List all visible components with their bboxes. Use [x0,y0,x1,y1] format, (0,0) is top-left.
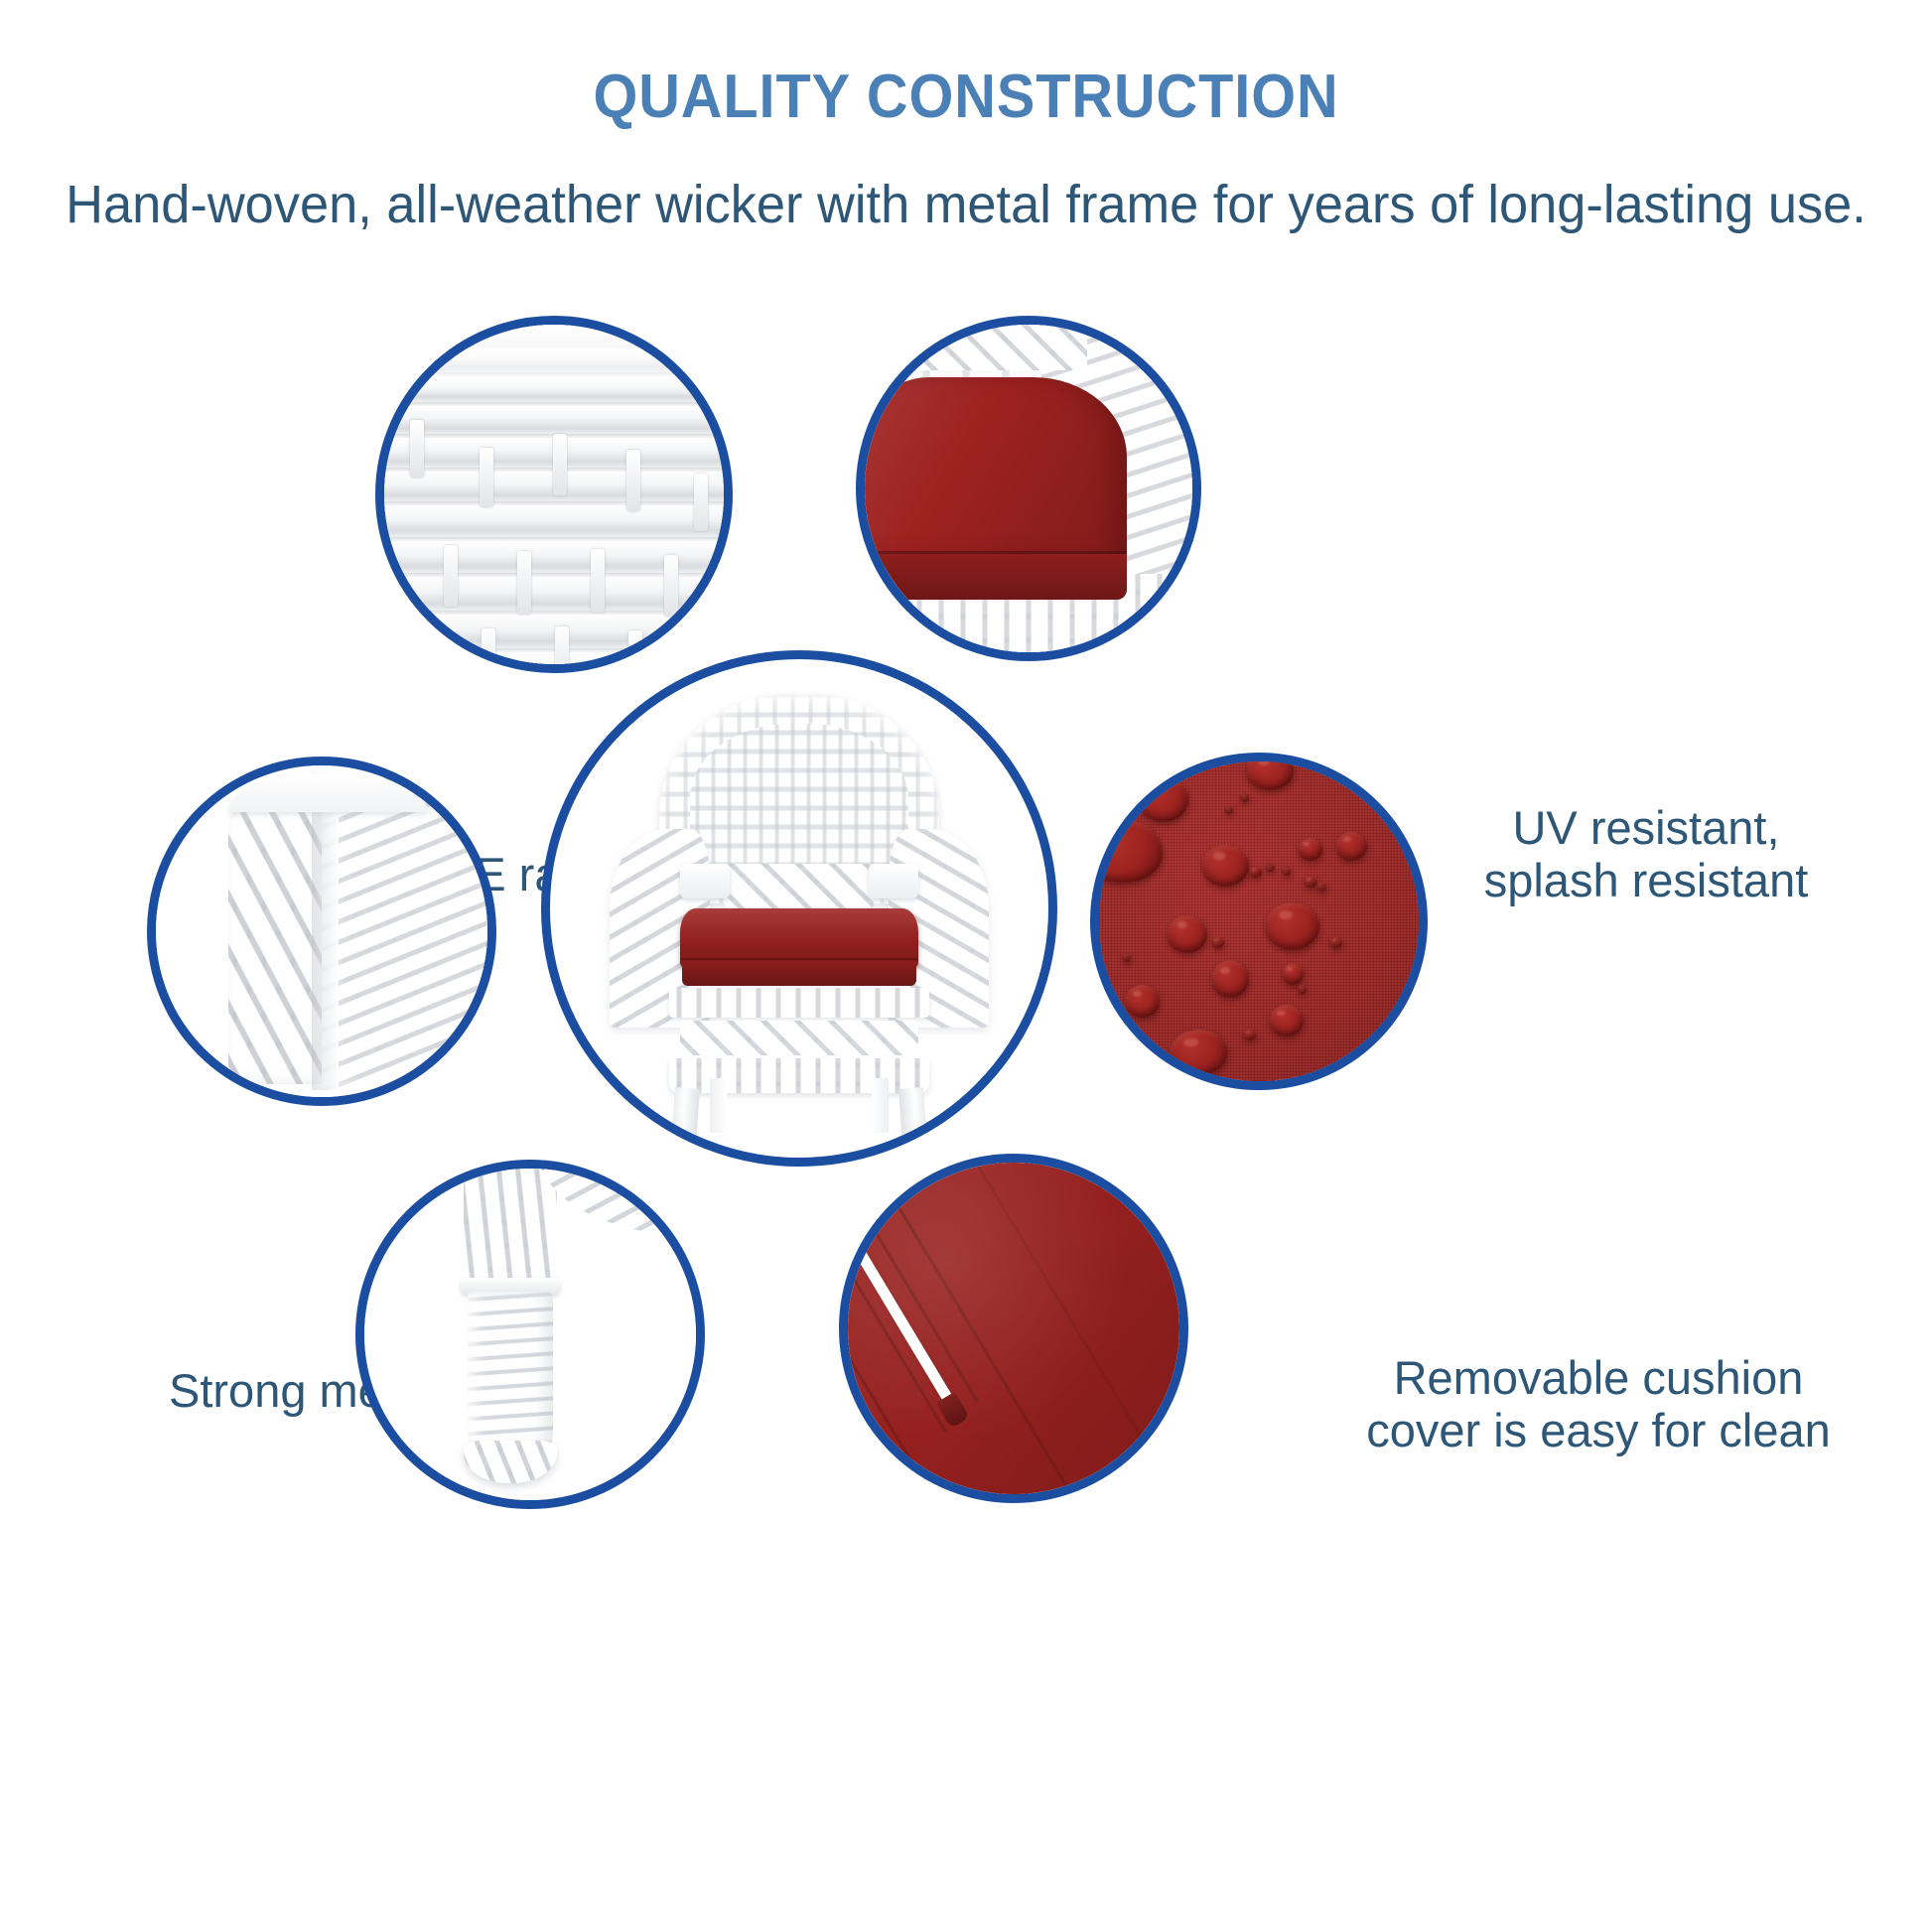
feature-circle-removable-cushion-cover [1090,753,1428,1090]
feature-label-removable-cushion-cover: Removable cushion cover is easy for clea… [1311,1352,1886,1456]
white-wicker-armchair-with-red-cushion-image [550,659,1048,1158]
feature-circle-strong-metal-structure [147,757,496,1106]
feature-circle-chair-leg-detail [355,1160,705,1509]
white-wicker-chair-arm-corner-image [156,765,487,1097]
red-cushion-zipper-image [848,1163,1179,1494]
feature-circle-uv-splash-resistant [856,316,1201,661]
feature-circle-cushion-zipper-detail [839,1154,1188,1503]
closeup-white-wicker-weave-image [384,325,724,664]
page-title: QUALITY CONSTRUCTION [68,62,1864,132]
white-wicker-chair-leg-image [364,1169,696,1500]
feature-label-uv-splash-resistant: UV resistant, splash resistant [1398,802,1894,906]
feature-circle-hand-woven-pe-rattan [375,316,733,673]
infographic-canvas: QUALITY CONSTRUCTION Hand-woven, all-wea… [0,0,1932,1932]
water-droplets-on-red-fabric-image [1099,761,1419,1081]
page-subtitle: Hand-woven, all-weather wicker with meta… [29,174,1903,235]
product-circle-full-chair [541,650,1057,1167]
red-cushion-on-white-wicker-seat-image [865,325,1192,652]
